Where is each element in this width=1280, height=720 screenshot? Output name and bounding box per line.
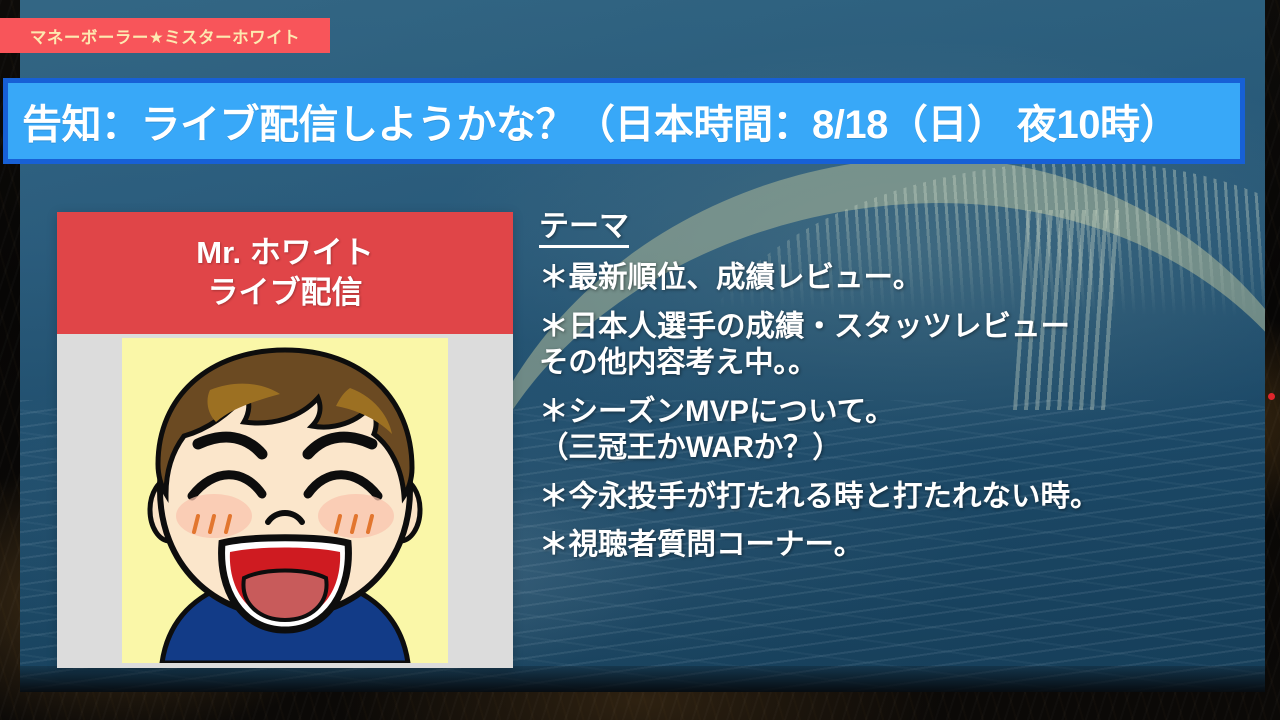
theme-line: ＊最新順位、成績レビュー。 xyxy=(539,260,1239,297)
theme-item: ＊最新順位、成績レビュー。 xyxy=(539,260,1239,297)
profile-title-line-2: ライブ配信 xyxy=(208,274,363,312)
headline-banner: 告知：ライブ配信しようかな？（日本時間：8/18（日） 夜10時） xyxy=(3,78,1245,164)
avatar xyxy=(122,338,448,663)
theme-line: （三冠王かWARか？） xyxy=(539,430,1239,467)
laughing-face-illustration xyxy=(122,338,448,663)
theme-line: ＊視聴者質問コーナー。 xyxy=(539,527,1239,564)
profile-card: Mr. ホワイト ライブ配信 xyxy=(57,212,513,668)
profile-title-line-1: Mr. ホワイト xyxy=(196,234,373,272)
theme-line: その他内容考え中。。 xyxy=(539,345,1239,382)
theme-column: テーマ ＊最新順位、成績レビュー。 ＊日本人選手の成績・スタッツレビュー その他… xyxy=(539,212,1239,672)
theme-heading: テーマ xyxy=(539,212,629,248)
channel-name-label: マネーボーラー★ミスターホワイト xyxy=(30,24,300,48)
theme-item: ＊シーズンMVPについて。 （三冠王かWARか？） xyxy=(539,394,1239,467)
channel-name-tag: マネーボーラー★ミスターホワイト xyxy=(0,18,330,53)
theme-item: ＊今永投手が打たれる時と打たれない時。 xyxy=(539,479,1239,516)
theme-item: ＊日本人選手の成績・スタッツレビュー その他内容考え中。。 xyxy=(539,309,1239,382)
theme-line: ＊日本人選手の成績・スタッツレビュー xyxy=(539,309,1239,346)
video-frame: マネーボーラー★ミスターホワイト 告知：ライブ配信しようかな？（日本時間：8/1… xyxy=(0,0,1280,720)
headline-text: 告知：ライブ配信しようかな？（日本時間：8/18（日） 夜10時） xyxy=(8,92,1179,150)
status-dot xyxy=(1268,393,1275,400)
profile-card-header: Mr. ホワイト ライブ配信 xyxy=(57,212,513,334)
theme-line: ＊今永投手が打たれる時と打たれない時。 xyxy=(539,479,1239,516)
theme-line: ＊シーズンMVPについて。 xyxy=(539,394,1239,431)
theme-item: ＊視聴者質問コーナー。 xyxy=(539,527,1239,564)
theme-heading-wrap: テーマ xyxy=(539,212,1239,248)
